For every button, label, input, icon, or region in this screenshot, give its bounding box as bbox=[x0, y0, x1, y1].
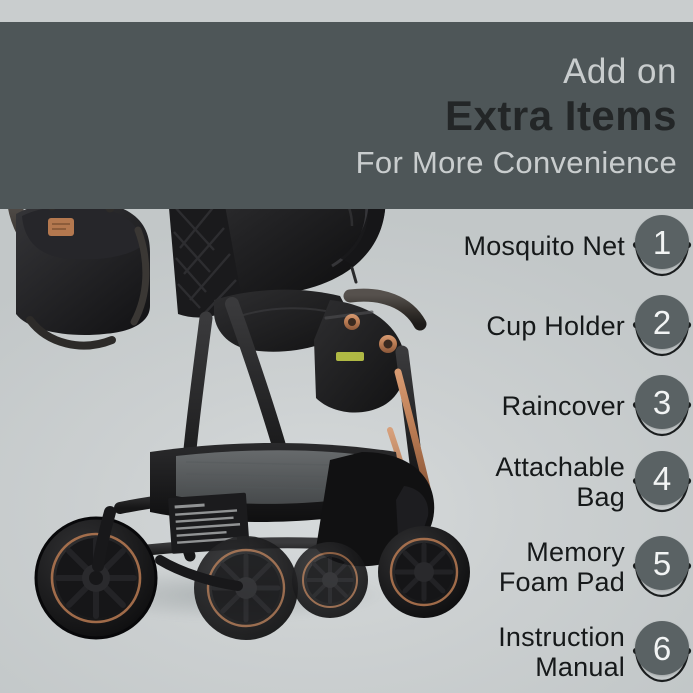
infographic-canvas: Add on Extra Items For More Convenience … bbox=[0, 0, 693, 693]
list-item[interactable]: Memory Foam Pad 5 bbox=[393, 536, 693, 598]
badge-1: 1 bbox=[631, 215, 693, 277]
rear-wheel bbox=[36, 518, 156, 638]
header-line-title: Extra Items bbox=[445, 92, 677, 140]
header-line-subtitle: For More Convenience bbox=[356, 146, 677, 179]
item-label: Instruction Manual bbox=[498, 622, 631, 682]
badge-circle: 6 bbox=[635, 621, 689, 675]
rear-wheel-far bbox=[194, 536, 298, 640]
item-label: Attachable Bag bbox=[495, 452, 631, 512]
badge-circle: 5 bbox=[635, 536, 689, 590]
top-strip bbox=[0, 0, 693, 22]
list-item[interactable]: Instruction Manual 6 bbox=[393, 621, 693, 683]
badge-circle: 3 bbox=[635, 375, 689, 429]
header-line-addon: Add on bbox=[563, 53, 677, 91]
item-label: Cup Holder bbox=[486, 311, 631, 341]
list-item[interactable]: Mosquito Net 1 bbox=[393, 215, 693, 277]
item-label: Raincover bbox=[502, 391, 631, 421]
list-item[interactable]: Raincover 3 bbox=[393, 375, 693, 437]
front-wheel-far bbox=[292, 542, 368, 618]
badge-circle: 4 bbox=[635, 451, 689, 505]
badge-number: 6 bbox=[653, 632, 671, 665]
badge-2: 2 bbox=[631, 295, 693, 357]
badge-number: 4 bbox=[653, 462, 671, 495]
badge-4: 4 bbox=[631, 451, 693, 513]
list-item[interactable]: Attachable Bag 4 bbox=[393, 451, 693, 513]
badge-5: 5 bbox=[631, 536, 693, 598]
item-label: Mosquito Net bbox=[464, 231, 631, 261]
extra-items-list: Mosquito Net 1 Cup Holder bbox=[393, 211, 693, 693]
badge-number: 5 bbox=[653, 547, 671, 580]
badge-number: 3 bbox=[653, 386, 671, 419]
badge-3: 3 bbox=[631, 375, 693, 437]
badge-circle: 1 bbox=[635, 215, 689, 269]
badge-number: 2 bbox=[653, 306, 671, 339]
header-text-block: Add on Extra Items For More Convenience bbox=[257, 22, 677, 209]
badge-circle: 2 bbox=[635, 295, 689, 349]
badge-6: 6 bbox=[631, 621, 693, 683]
item-label: Memory Foam Pad bbox=[499, 537, 631, 597]
badge-number: 1 bbox=[653, 226, 671, 259]
list-item[interactable]: Cup Holder 2 bbox=[393, 295, 693, 357]
